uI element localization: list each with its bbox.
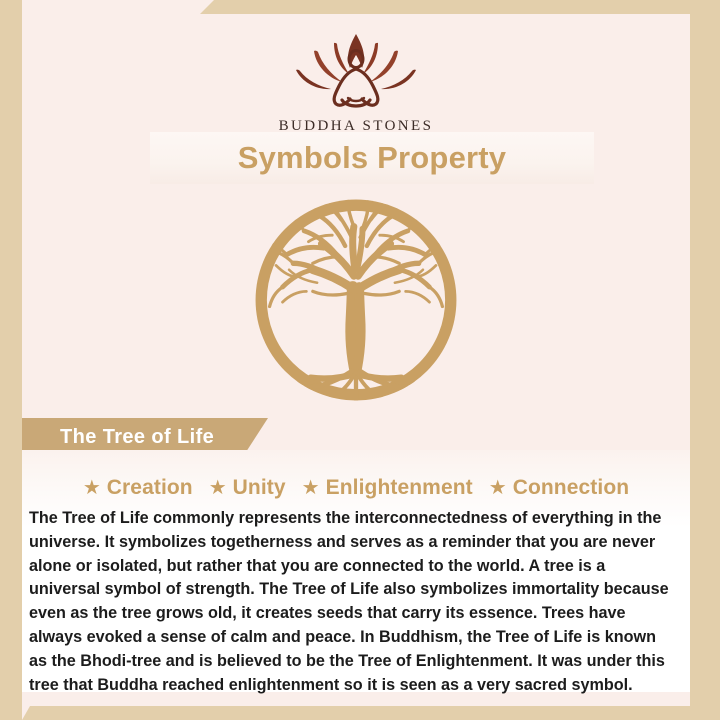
feature-label: Enlightenment [326,476,473,500]
star-icon: ★ [302,478,320,498]
star-icon: ★ [209,478,227,498]
star-icon: ★ [489,478,507,498]
feature-list: ★ Creation ★ Unity ★ Enlightenment ★ Con… [22,450,690,500]
star-icon: ★ [83,478,101,498]
content-card: ★ Creation ★ Unity ★ Enlightenment ★ Con… [22,450,690,692]
title-banner: Symbols Property [150,132,594,184]
feature-label: Creation [107,476,193,500]
tree-of-life-emblem [22,192,690,413]
decorative-band-left [0,0,22,720]
tree-of-life-icon [248,192,464,408]
feature-item-enlightenment: ★ Enlightenment [302,476,473,500]
brand-logo-block: BUDDHA STONES [22,24,690,135]
poster-root: BUDDHA STONES Symbols Property [0,0,720,720]
feature-label: Connection [513,476,630,500]
decorative-band-top [200,0,720,14]
feature-label: Unity [233,476,286,500]
feature-item-creation: ★ Creation [83,476,193,500]
feature-item-connection: ★ Connection [489,476,629,500]
decorative-band-right [690,0,720,720]
ribbon-label: The Tree of Life [22,426,214,449]
poster-canvas: BUDDHA STONES Symbols Property [22,14,690,706]
lotus-meditation-icon [278,24,434,116]
feature-item-unity: ★ Unity [209,476,286,500]
description-paragraph: The Tree of Life commonly represents the… [29,507,672,698]
page-title: Symbols Property [238,140,507,176]
